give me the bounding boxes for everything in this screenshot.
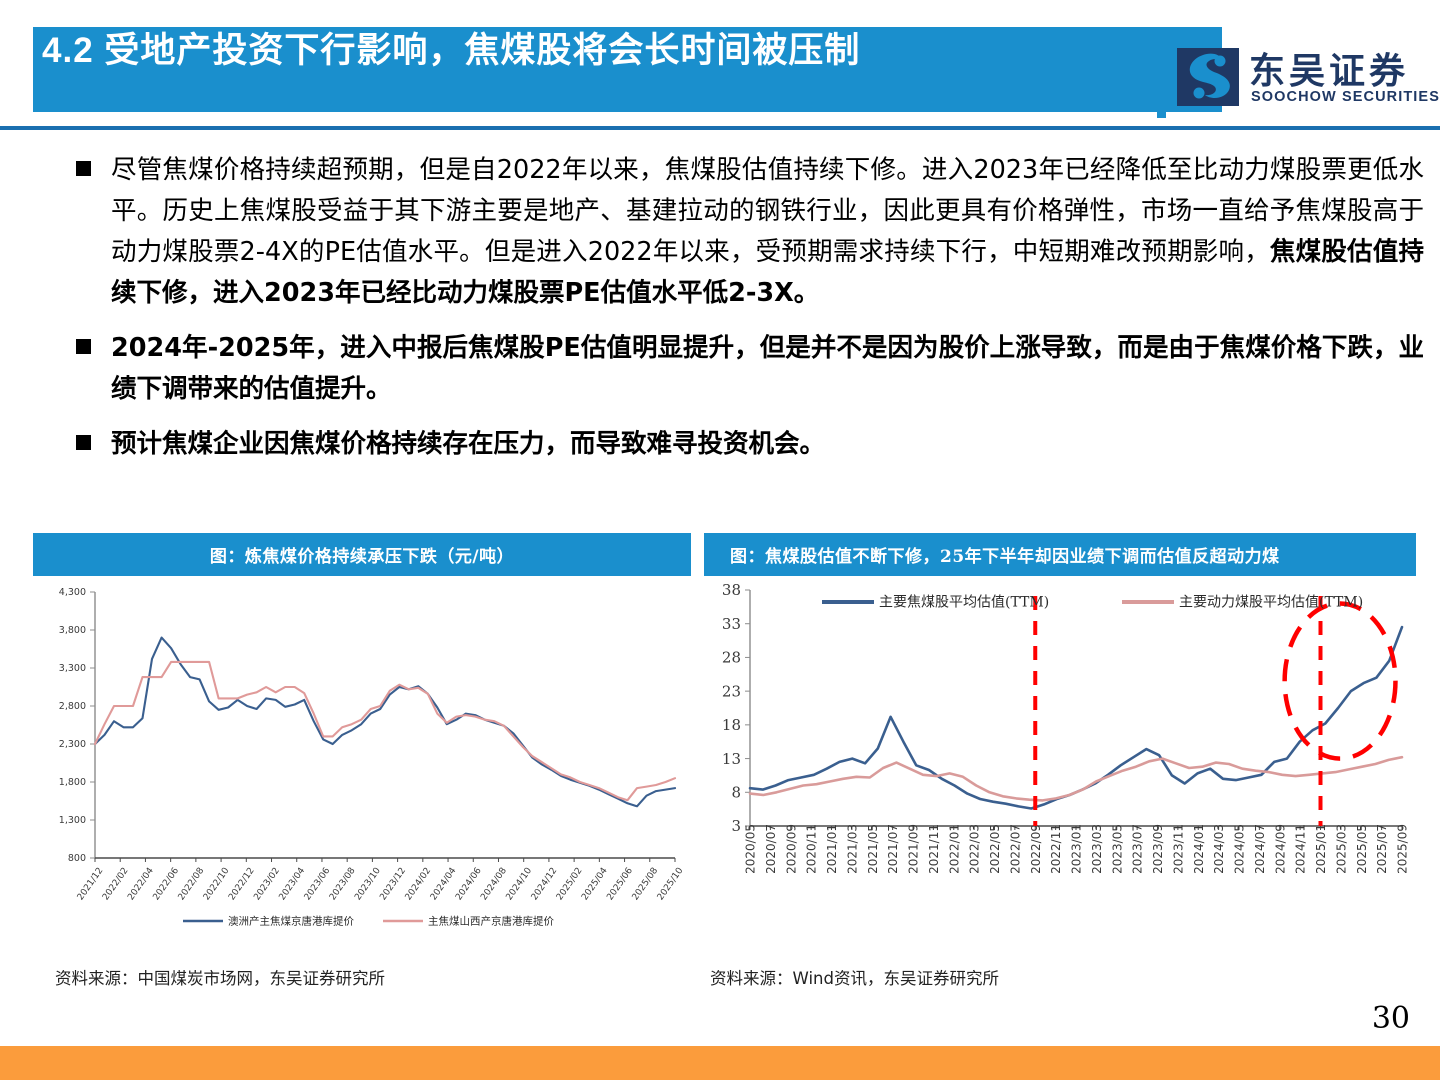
y-axis-tick-label: 18 <box>722 716 741 734</box>
x-axis-tick-label: 2021/05 <box>866 824 880 874</box>
bullet-text-2: 2024年-2025年，进入中报后焦煤股PE估值明显提升，但是并不是因为股价上涨… <box>111 328 1424 410</box>
y-axis-tick-label: 1,300 <box>59 815 86 826</box>
x-axis-tick-label: 2020/05 <box>744 824 758 874</box>
x-axis-tick-label: 2023/07 <box>1131 824 1145 874</box>
annotation-highlight-ellipse <box>1285 603 1396 758</box>
x-axis-tick-label: 2021/11 <box>927 824 941 874</box>
y-axis-tick-label: 3,800 <box>59 625 86 636</box>
x-axis-tick-label: 2025/09 <box>1396 824 1410 874</box>
x-axis-tick-label: 2024/01 <box>1192 824 1206 874</box>
y-axis-tick-label: 1,800 <box>59 777 86 788</box>
bullet-item-3: 预计焦煤企业因焦煤价格持续存在压力，而导致难寻投资机会。 <box>76 424 1424 465</box>
bullet-marker-icon <box>76 435 91 450</box>
x-axis-tick-label: 2022/01 <box>947 824 961 874</box>
y-axis-tick-label: 3 <box>731 817 741 835</box>
x-axis-tick-label: 2022/11 <box>1049 824 1063 874</box>
x-axis-tick-label: 2022/09 <box>1029 824 1043 874</box>
y-axis-tick-label: 38 <box>722 581 741 599</box>
bullet-text-3: 预计焦煤企业因焦煤价格持续存在压力，而导致难寻投资机会。 <box>111 424 825 465</box>
source-note-right: 资料来源：Wind资讯，东吴证券研究所 <box>710 965 999 989</box>
chart-area-left: 8001,3001,8002,3002,8003,3003,8004,30020… <box>33 576 691 976</box>
x-axis-tick-label: 2025/03 <box>1334 824 1348 874</box>
coking-coal-price-line-chart: 8001,3001,8002,3002,8003,3003,8004,30020… <box>33 576 691 976</box>
chart-title-right: 图：焦煤股估值不断下修，25年下半年却因业绩下调而估值反超动力煤 <box>704 533 1416 576</box>
y-axis-tick-label: 2,300 <box>59 739 86 750</box>
page-number: 30 <box>1372 1001 1410 1036</box>
bullet-marker-icon <box>76 339 91 354</box>
x-axis-tick-label: 2023/09 <box>1151 824 1165 874</box>
x-axis-tick-label: 2022/05 <box>988 824 1002 874</box>
logo-text-cn: 东吴证券 <box>1249 42 1409 94</box>
x-axis-tick-label: 2024/03 <box>1212 824 1226 874</box>
x-axis-tick-label: 2025/05 <box>1355 824 1369 874</box>
chart-area-right: 381318232833382020/052020/072020/092020/… <box>704 576 1416 976</box>
source-note-left: 资料来源：中国煤炭市场网，东吴证券研究所 <box>55 965 385 989</box>
content-bullets: 尽管焦煤价格持续超预期，但是自2022年以来，焦煤股估值持续下修。进入2023年… <box>76 150 1424 479</box>
y-axis-tick-label: 800 <box>68 853 86 864</box>
y-axis-tick-label: 3,300 <box>59 663 86 674</box>
x-axis-tick-label: 2025/07 <box>1375 824 1389 874</box>
y-axis-tick-label: 33 <box>722 615 741 633</box>
bullet-text-1: 尽管焦煤价格持续超预期，但是自2022年以来，焦煤股估值持续下修。进入2023年… <box>111 150 1424 314</box>
x-axis-tick-label: 2024/07 <box>1253 824 1267 874</box>
page-title: 4.2 受地产投资下行影响，焦煤股将会长时间被压制 <box>42 22 860 73</box>
x-axis-tick-label: 2022/03 <box>968 824 982 874</box>
legend-label-1: 主要焦煤股平均估值(TTM) <box>879 595 1049 611</box>
x-axis-tick-label: 2020/11 <box>805 824 819 874</box>
x-axis-tick-label: 2021/03 <box>845 824 859 874</box>
pe-valuation-line-chart: 381318232833382020/052020/072020/092020/… <box>704 576 1416 976</box>
x-axis-tick-label: 2023/03 <box>1090 824 1104 874</box>
y-axis-tick-label: 28 <box>722 649 741 667</box>
header-divider <box>0 126 1440 130</box>
x-axis-tick-label: 2024/11 <box>1294 824 1308 874</box>
x-axis-tick-label: 2021/07 <box>886 824 900 874</box>
logo-text-en: SOOCHOW SECURITIES <box>1251 89 1440 105</box>
x-axis-tick-label: 2021/09 <box>907 824 921 874</box>
x-axis-tick-label: 2023/01 <box>1070 824 1084 874</box>
x-axis-tick-label: 2021/01 <box>825 824 839 874</box>
footer-bar <box>0 1046 1440 1080</box>
y-axis-tick-label: 4,300 <box>59 587 86 598</box>
chart-panel-pe-valuation: 图：焦煤股估值不断下修，25年下半年却因业绩下调而估值反超动力煤 3813182… <box>704 533 1416 1003</box>
x-axis-tick-label: 2025/01 <box>1314 824 1328 874</box>
y-axis-tick-label: 8 <box>731 783 741 801</box>
bullet-1-normal: 尽管焦煤价格持续超预期，但是自2022年以来，焦煤股估值持续下修。进入2023年… <box>111 155 1424 267</box>
soochow-logo-icon <box>1177 48 1239 106</box>
x-axis-tick-label: 2024/05 <box>1233 824 1247 874</box>
x-axis-tick-label: 2023/05 <box>1110 824 1124 874</box>
x-axis-tick-label: 2024/09 <box>1273 824 1287 874</box>
bullet-item-2: 2024年-2025年，进入中报后焦煤股PE估值明显提升，但是并不是因为股价上涨… <box>76 328 1424 410</box>
x-axis-tick-label: 2020/07 <box>764 824 778 874</box>
y-axis-tick-label: 2,800 <box>59 701 86 712</box>
legend-label-2: 主焦煤山西产京唐港库提价 <box>428 914 554 927</box>
bullet-item-1: 尽管焦煤价格持续超预期，但是自2022年以来，焦煤股估值持续下修。进入2023年… <box>76 150 1424 314</box>
series-line-2 <box>95 662 675 800</box>
chart-panel-coking-coal-price: 图：炼焦煤价格持续承压下跌（元/吨） 8001,3001,8002,3002,8… <box>33 533 691 1003</box>
chart-title-left: 图：炼焦煤价格持续承压下跌（元/吨） <box>33 533 691 576</box>
x-axis-tick-label: 2025/10 <box>656 866 686 903</box>
logo-accent-bar <box>1157 40 1166 118</box>
bullet-marker-icon <box>76 161 91 176</box>
x-axis-tick-label: 2023/11 <box>1171 824 1185 874</box>
legend-label-2: 主要动力煤股平均估值(TTM) <box>1179 595 1363 611</box>
x-axis-tick-label: 2020/09 <box>784 824 798 874</box>
x-axis-tick-label: 2022/07 <box>1008 824 1022 874</box>
series-line-1 <box>750 627 1402 808</box>
series-line-2 <box>750 757 1402 800</box>
legend-label-1: 澳洲产主焦煤京唐港库提价 <box>228 914 354 927</box>
company-logo: 东吴证券 SOOCHOW SECURITIES <box>1157 40 1397 118</box>
y-axis-tick-label: 13 <box>722 750 741 768</box>
y-axis-tick-label: 23 <box>722 682 741 700</box>
